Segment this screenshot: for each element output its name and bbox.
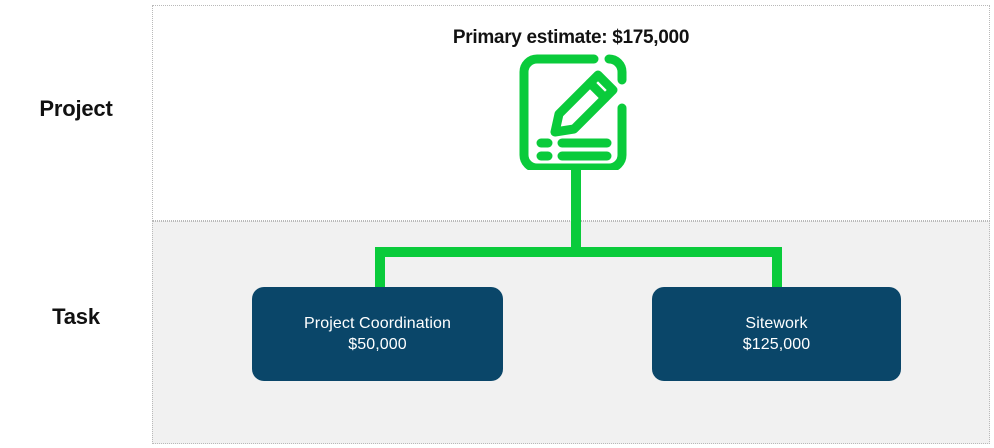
connector-drop-right [772,247,782,292]
connector-stem [571,166,581,257]
lane-label-task: Task [0,304,152,330]
task-node-project-coordination[interactable]: Project Coordination $50,000 [252,287,503,381]
task-value: $50,000 [348,334,407,355]
document-pencil-icon [519,54,627,170]
primary-estimate-title: Primary estimate: $175,000 [152,27,990,49]
task-name: Sitework [745,313,807,334]
project-node[interactable] [519,54,627,170]
lane-label-project: Project [0,96,152,122]
connector-bus [375,247,782,257]
estimate-breakdown-diagram: Project Task Primary estimate: $175,000 [0,0,994,448]
connector-drop-left [375,247,385,292]
task-value: $125,000 [743,334,811,355]
task-name: Project Coordination [304,313,451,334]
task-node-sitework[interactable]: Sitework $125,000 [652,287,901,381]
